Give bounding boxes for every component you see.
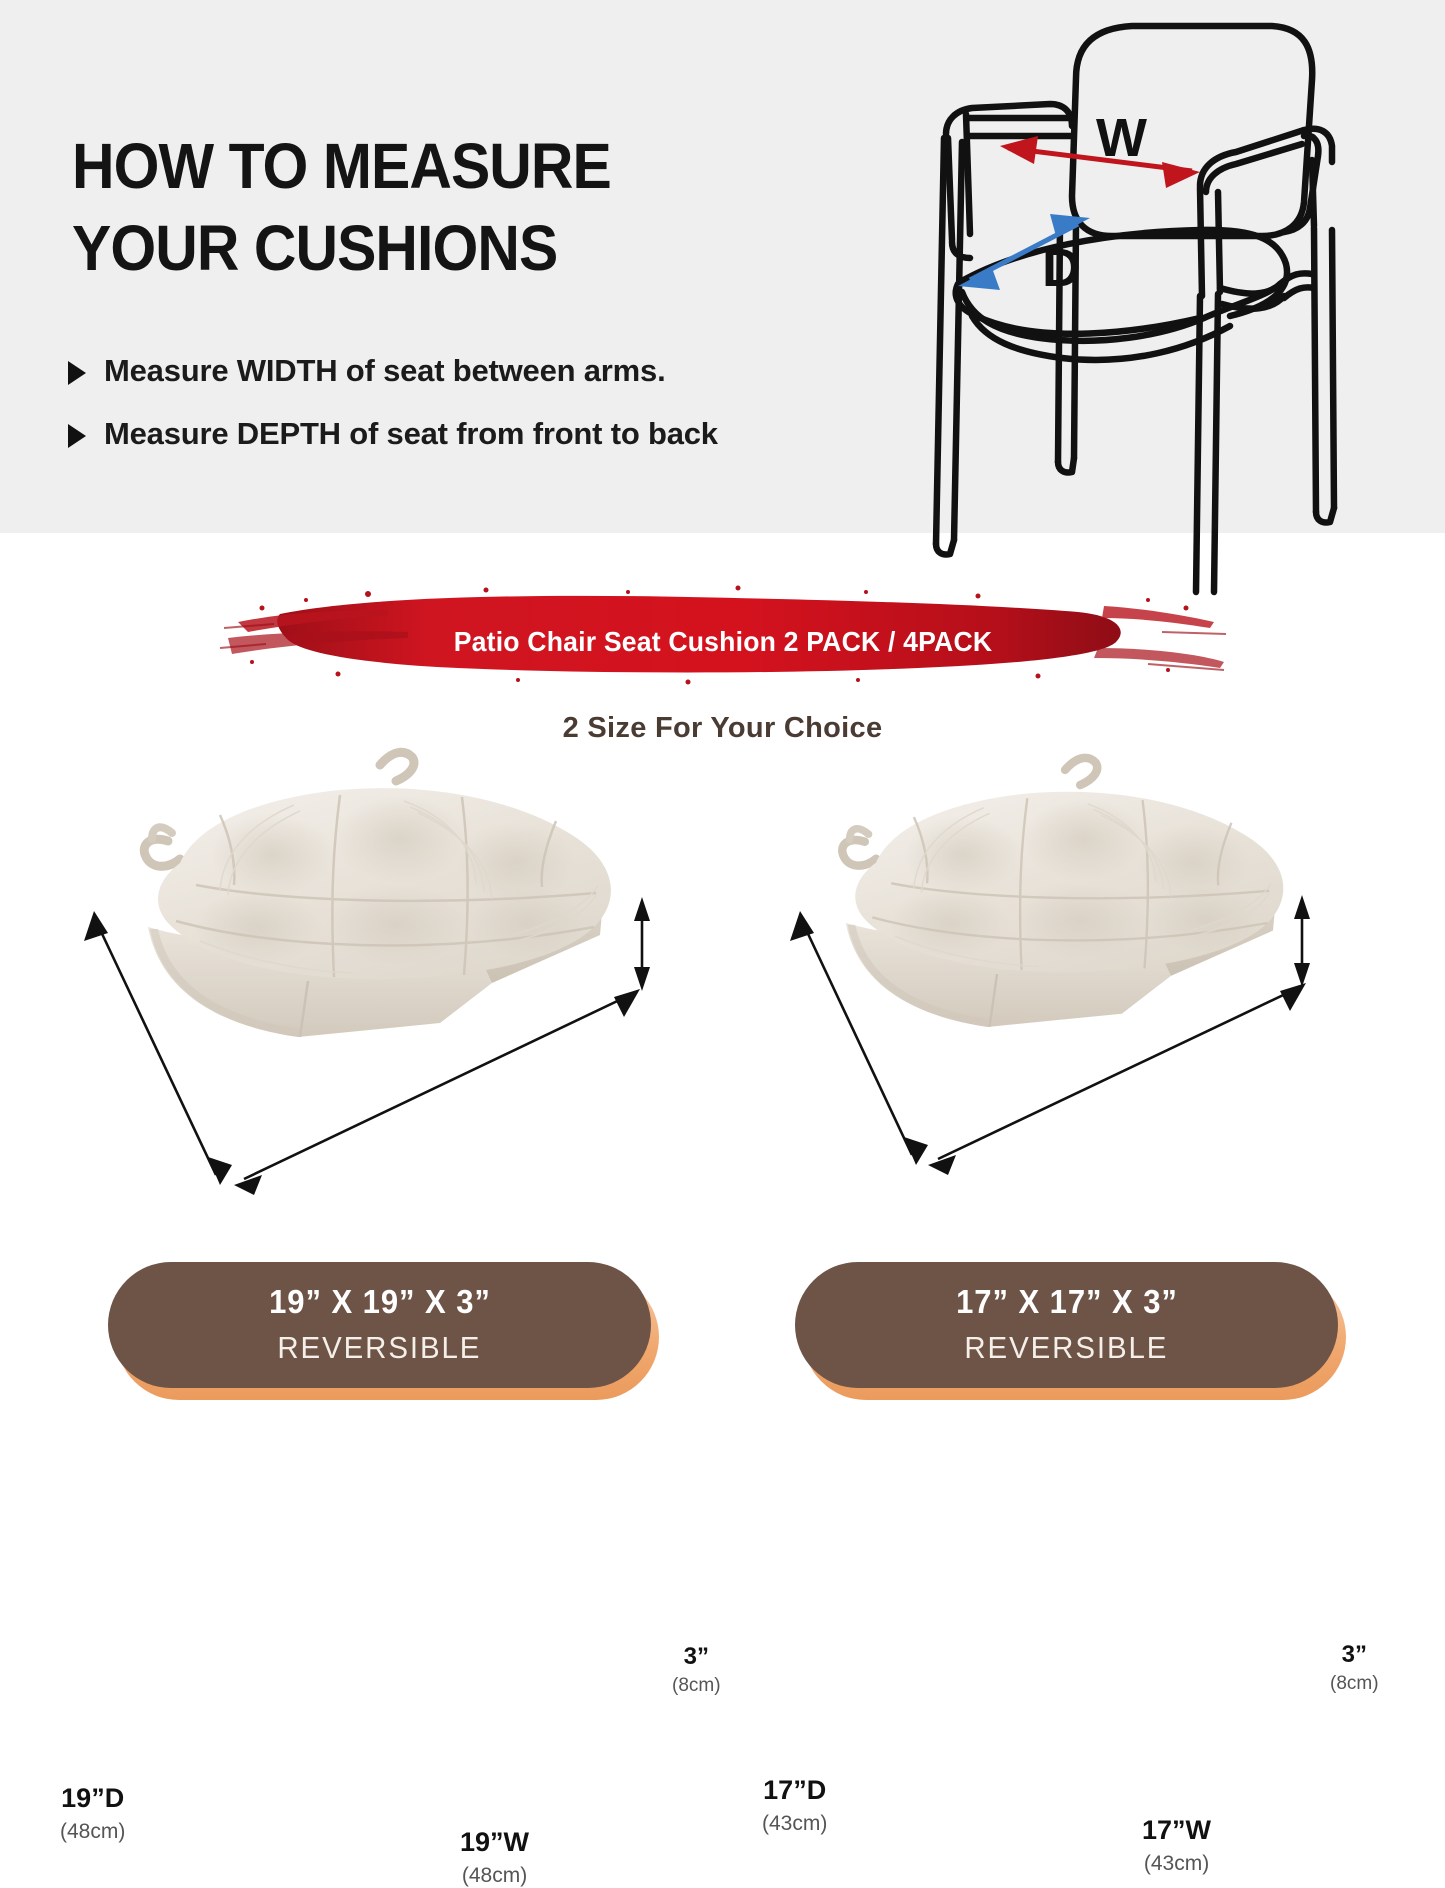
measure-instructions-list: Measure WIDTH of seat between arms. Meas… bbox=[68, 352, 888, 478]
page-title-line2: YOUR CUSHIONS bbox=[72, 208, 716, 290]
depth-label: D bbox=[1042, 238, 1081, 298]
page-title-line1: HOW TO MEASURE bbox=[72, 130, 611, 202]
chair-diagram: W D bbox=[900, 0, 1445, 596]
large-cushion-height-label: 3” (8cm) bbox=[672, 1643, 721, 1697]
badge-reversible: REVERSIBLE bbox=[965, 1330, 1169, 1366]
instruction-depth: Measure DEPTH of seat from front to back bbox=[104, 415, 718, 452]
instruction-width: Measure WIDTH of seat between arms. bbox=[104, 352, 666, 389]
list-item: Measure WIDTH of seat between arms. bbox=[68, 352, 888, 389]
large-cushion-width-label: 19”W (48cm) bbox=[460, 1827, 529, 1888]
small-cushion-width-label: 17”W (43cm) bbox=[1142, 1815, 1211, 1876]
product-comparison-area: 19”D (48cm) 19”W (48cm) 3” (8cm) 17”D (4… bbox=[0, 745, 1445, 1215]
small-cushion-height-label: 3” (8cm) bbox=[1330, 1641, 1379, 1695]
infographic-page: HOW TO MEASURE YOUR CUSHIONS Measure WID… bbox=[0, 0, 1445, 1406]
size-19-badge[interactable]: 19” X 19” X 3” REVERSIBLE bbox=[108, 1262, 651, 1388]
triangle-bullet-icon bbox=[68, 424, 86, 448]
size-17-badge[interactable]: 17” X 17” X 3” REVERSIBLE bbox=[795, 1262, 1338, 1388]
badge-body: 19” X 19” X 3” REVERSIBLE bbox=[108, 1262, 651, 1388]
badge-dimensions: 19” X 19” X 3” bbox=[269, 1284, 491, 1320]
list-item: Measure DEPTH of seat from front to back bbox=[68, 415, 888, 452]
cushion-illustrations-svg bbox=[0, 745, 1445, 1215]
large-cushion-depth-label: 19”D (48cm) bbox=[60, 1783, 125, 1844]
size-badges-row: 19” X 19” X 3” REVERSIBLE 17” X 17” X 3”… bbox=[0, 1262, 1445, 1406]
large-cushion-image bbox=[144, 752, 611, 1037]
small-cushion-depth-label: 17”D (43cm) bbox=[762, 1775, 827, 1836]
page-title: HOW TO MEASURE YOUR CUSHIONS bbox=[72, 126, 716, 290]
banner-title: Patio Chair Seat Cushion 2 PACK / 4PACK bbox=[243, 586, 1203, 698]
badge-reversible: REVERSIBLE bbox=[278, 1330, 482, 1366]
triangle-bullet-icon bbox=[68, 361, 86, 385]
small-cushion-image bbox=[842, 758, 1283, 1027]
product-banner: Patio Chair Seat Cushion 2 PACK / 4PACK bbox=[218, 578, 1228, 690]
badge-body: 17” X 17” X 3” REVERSIBLE bbox=[795, 1262, 1338, 1388]
width-label: W bbox=[1096, 108, 1147, 168]
badge-dimensions: 17” X 17” X 3” bbox=[956, 1284, 1178, 1320]
section-subtitle: 2 Size For Your Choice bbox=[0, 712, 1445, 745]
chair-illustration-svg: W D bbox=[900, 0, 1445, 596]
